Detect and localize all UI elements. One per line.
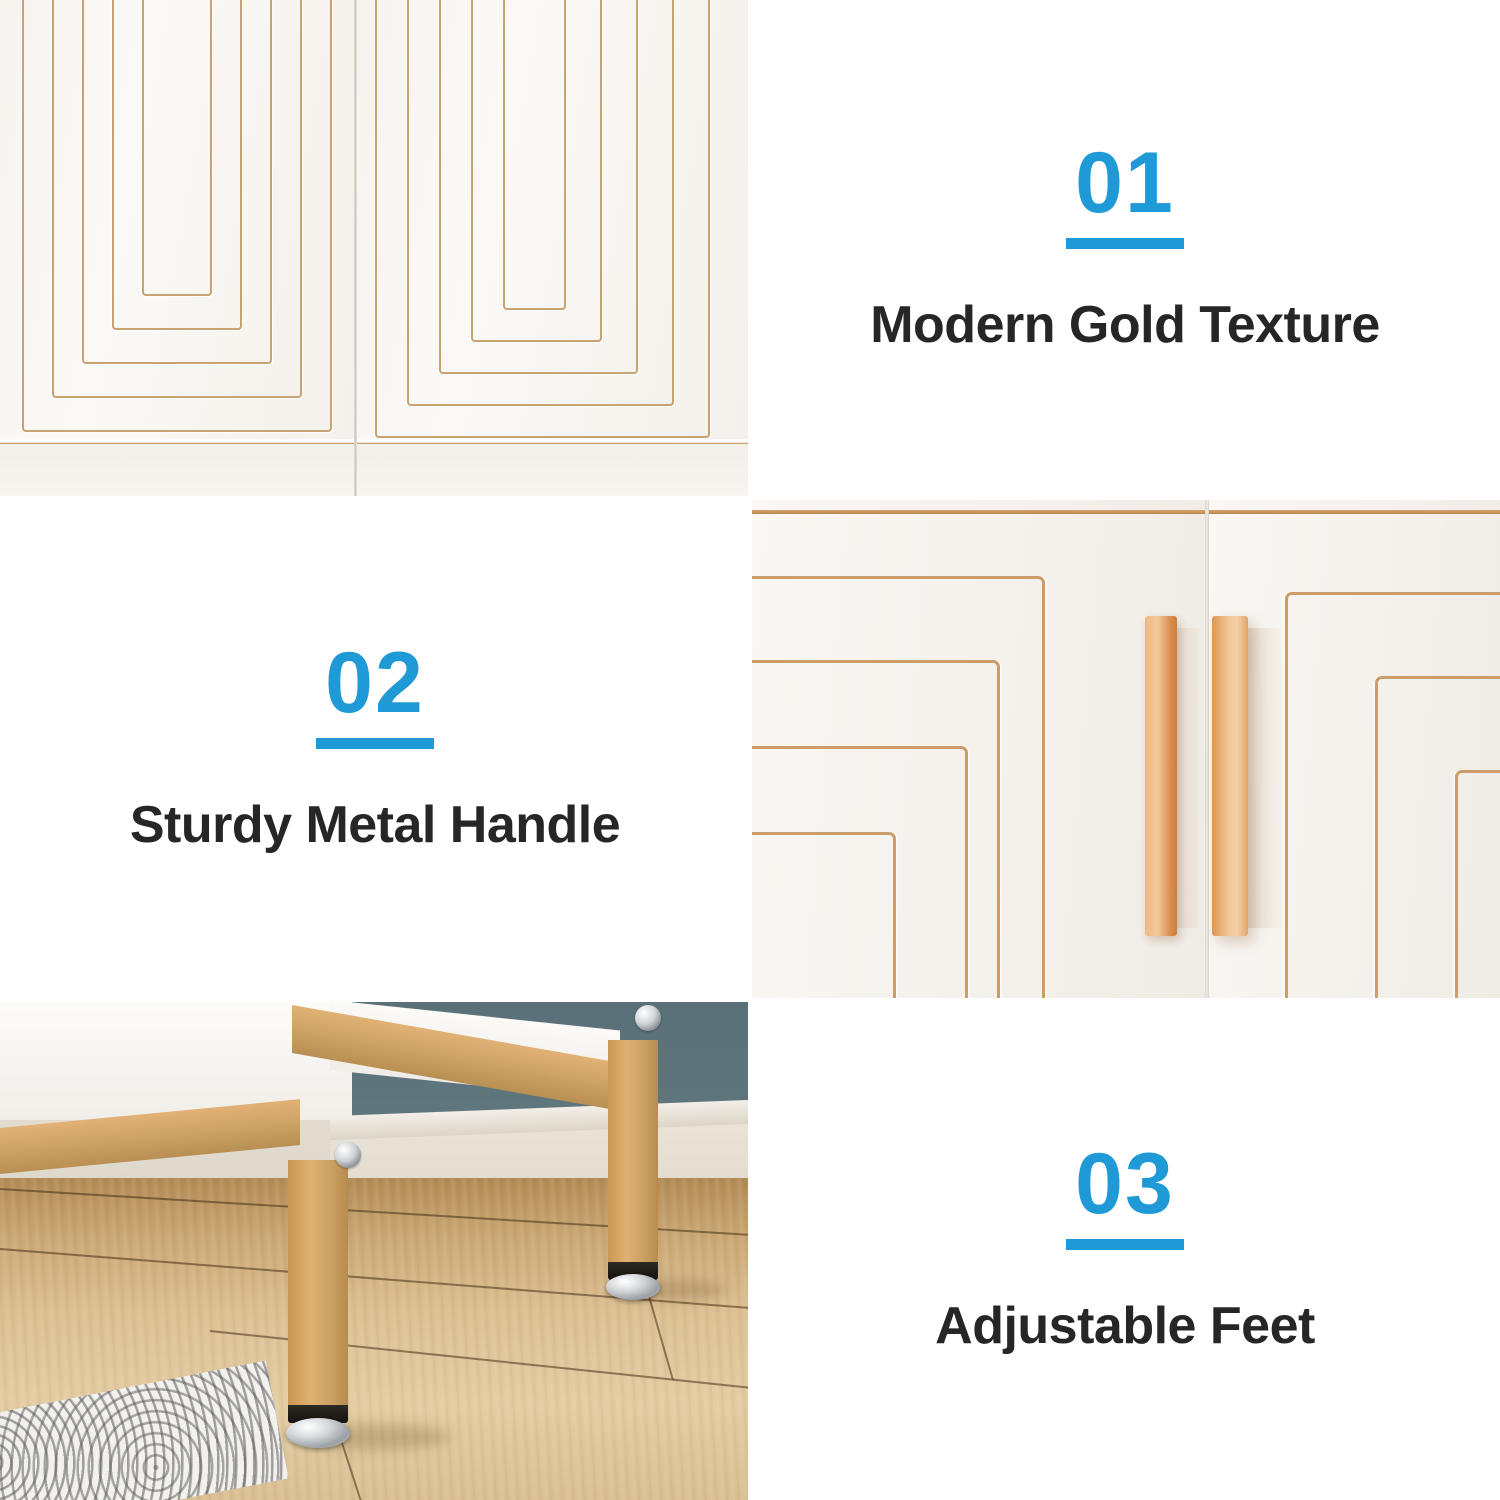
feature-block-03: 03 Adjustable Feet (750, 1000, 1500, 1500)
door-top-gold-edge (750, 510, 1205, 514)
feature-title-01: Modern Gold Texture (870, 295, 1380, 355)
textured-rug (0, 1361, 289, 1500)
feature-number-underline (1066, 1239, 1184, 1250)
gold-bar-handle-photo (750, 498, 1500, 1000)
feature-number-underline (316, 738, 434, 749)
feature-number-text: 03 (1075, 1144, 1175, 1226)
groove-ring-5 (503, 0, 566, 310)
cabinet-doors-gold-groove-photo (0, 0, 750, 498)
feature-number-text: 02 (325, 643, 425, 725)
handle-groove-3 (1455, 770, 1500, 1000)
adjustable-feet-photo (0, 1000, 750, 1500)
gold-leg-back (608, 1040, 658, 1270)
door-seam (354, 0, 357, 498)
door-panel-left (0, 0, 354, 498)
handle-door-seam (1205, 498, 1209, 1000)
feature-infographic: 01 Modern Gold Texture 02 Sturdy Metal H… (0, 0, 1500, 1500)
metal-handle-left (1145, 616, 1177, 936)
metal-handle-right (1212, 616, 1248, 936)
gold-leg-front (288, 1160, 348, 1415)
door-top-gold-edge (1209, 510, 1500, 514)
handle-door-left (750, 498, 1205, 1000)
horizontal-gutter-2 (0, 998, 1500, 1002)
feature-number-03: 03 (1066, 1144, 1184, 1251)
door-bottom-rail-right (357, 442, 750, 498)
handle-groove-4 (750, 832, 896, 1000)
leg-screw-front (335, 1142, 361, 1168)
handle-shadow-right (1248, 628, 1282, 928)
handle-shadow-left (1177, 628, 1199, 928)
feature-number-02: 02 (316, 643, 434, 750)
door-bottom-rail-left (0, 442, 354, 498)
adjustable-foot-glide-front (286, 1418, 350, 1448)
feature-number-text: 01 (1075, 143, 1175, 225)
horizontal-gutter-1 (0, 496, 1500, 500)
groove-ring-5 (142, 0, 212, 296)
feature-block-01: 01 Modern Gold Texture (750, 0, 1500, 498)
feature-title-02: Sturdy Metal Handle (130, 795, 620, 855)
leg-screw-back (635, 1005, 661, 1031)
door-panel-right (357, 0, 750, 498)
feature-title-03: Adjustable Feet (935, 1296, 1315, 1356)
feature-number-underline (1066, 238, 1184, 249)
adjustable-foot-glide-back (606, 1274, 660, 1300)
vertical-gutter (748, 0, 752, 1500)
feature-number-01: 01 (1066, 143, 1184, 250)
feature-block-02: 02 Sturdy Metal Handle (0, 498, 750, 1000)
